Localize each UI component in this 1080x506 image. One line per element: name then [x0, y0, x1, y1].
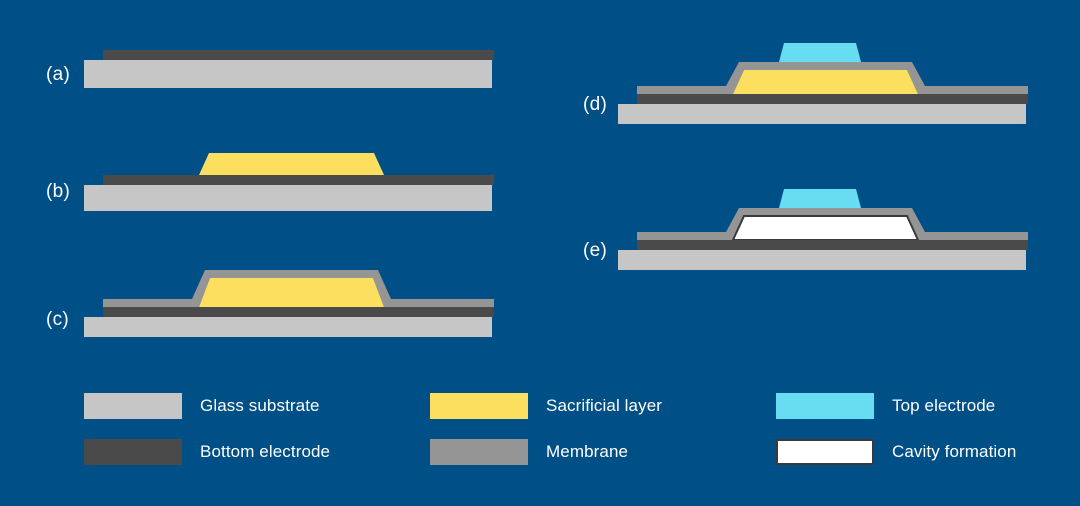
glass-substrate-swatch — [84, 393, 182, 419]
glass-substrate-shape — [618, 104, 1026, 124]
panel-e-art — [618, 184, 1038, 270]
legend-label-glass-substrate: Glass substrate — [200, 396, 320, 416]
legend-item-sacrificial-layer: Sacrificial layer — [430, 393, 662, 419]
membrane-swatch — [430, 439, 528, 465]
legend-label-bottom-electrode: Bottom electrode — [200, 442, 330, 462]
bottom-electrode-shape — [637, 94, 1028, 104]
bottom-electrode-shape — [103, 50, 494, 60]
glass-substrate-shape — [618, 250, 1026, 270]
legend-item-bottom-electrode: Bottom electrode — [84, 439, 330, 465]
bottom-electrode-shape — [103, 175, 494, 185]
legend-item-cavity-formation: Cavity formation — [776, 439, 1016, 465]
panel-b-art — [84, 145, 504, 211]
glass-substrate-shape — [84, 60, 492, 88]
panel-d-label: (d) — [583, 94, 607, 116]
legend-label-cavity-formation: Cavity formation — [892, 442, 1016, 462]
sacrificial-layer-shape — [199, 278, 384, 307]
glass-substrate-shape — [84, 185, 492, 211]
top-electrode-shape — [779, 43, 861, 62]
panel-b-label: (b) — [46, 181, 70, 203]
bottom-electrode-shape — [637, 240, 1028, 250]
legend-label-sacrificial-layer: Sacrificial layer — [546, 396, 662, 416]
top-electrode-swatch — [776, 393, 874, 419]
panel-c-art — [84, 265, 504, 337]
bottom-electrode-shape — [103, 307, 494, 317]
sacrificial-layer-shape — [733, 70, 918, 94]
panel-a-label: (a) — [46, 64, 70, 86]
legend-label-membrane: Membrane — [546, 442, 628, 462]
legend: Glass substrate Bottom electrode Sacrifi… — [0, 378, 1080, 478]
figure-canvas: (a) (b) (c) — [0, 0, 1080, 506]
panel-d-art — [618, 38, 1038, 124]
legend-item-top-electrode: Top electrode — [776, 393, 995, 419]
cavity-shape — [733, 216, 918, 240]
sacrificial-layer-shape — [199, 153, 384, 175]
cavity-formation-swatch — [776, 439, 874, 465]
legend-item-glass-substrate: Glass substrate — [84, 393, 320, 419]
panel-c-label: (c) — [46, 309, 69, 331]
legend-item-membrane: Membrane — [430, 439, 628, 465]
glass-substrate-shape — [84, 317, 492, 337]
panel-a-art — [84, 50, 504, 96]
sacrificial-layer-swatch — [430, 393, 528, 419]
panel-e-label: (e) — [583, 240, 607, 262]
legend-label-top-electrode: Top electrode — [892, 396, 995, 416]
bottom-electrode-swatch — [84, 439, 182, 465]
top-electrode-shape — [779, 189, 861, 208]
